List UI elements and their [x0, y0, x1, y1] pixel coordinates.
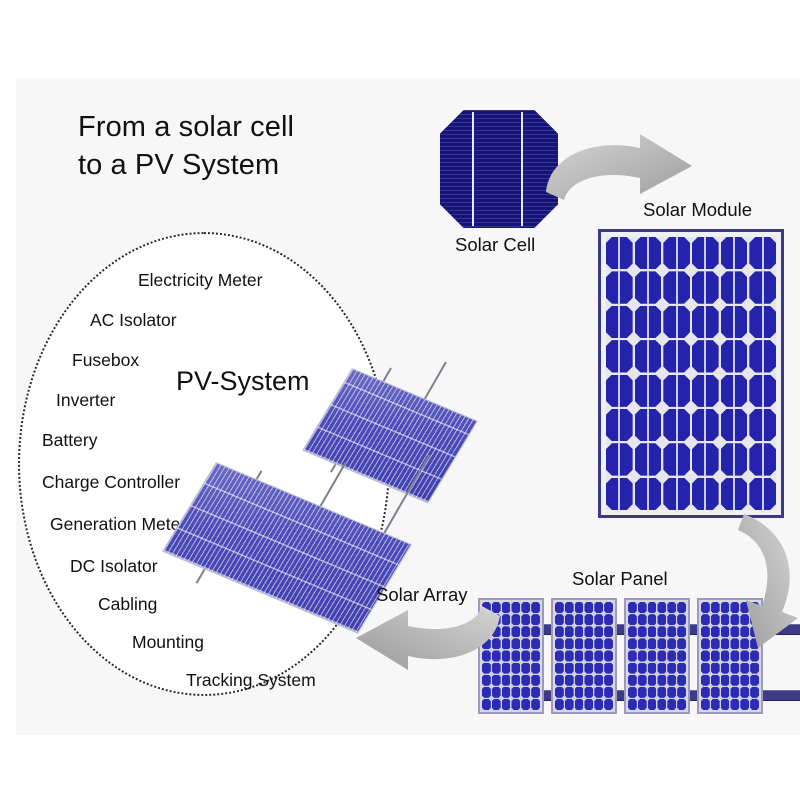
- panel-cell: [711, 687, 720, 698]
- panel-cell: [701, 675, 710, 686]
- panel-cell: [502, 699, 511, 710]
- panel-cell: [657, 663, 666, 674]
- module-cell: [606, 375, 633, 407]
- panel-cell: [628, 602, 637, 613]
- panel-cell: [594, 687, 603, 698]
- panel-cell: [604, 675, 613, 686]
- module-cell: [749, 409, 776, 441]
- module-cell: [692, 409, 719, 441]
- module-cell: [749, 375, 776, 407]
- module-cell: [635, 443, 662, 475]
- panel-cell: [628, 699, 637, 710]
- panel-cell: [740, 699, 749, 710]
- panel-cell: [502, 626, 511, 637]
- panel-cell: [502, 675, 511, 686]
- panel-cell: [575, 650, 584, 661]
- panel-cell: [511, 699, 520, 710]
- solar-cell-busbar-right: [521, 112, 523, 226]
- module-cell: [606, 443, 633, 475]
- panel-cell: [721, 675, 730, 686]
- panel-cell: [511, 602, 520, 613]
- panel-cell: [594, 675, 603, 686]
- component-item-electricity-meter: Electricity Meter: [138, 270, 262, 291]
- component-item-fusebox: Fusebox: [72, 350, 139, 371]
- panel-cell: [482, 699, 491, 710]
- panel-cell: [492, 699, 501, 710]
- panel-cell: [521, 699, 530, 710]
- panel-cell: [711, 650, 720, 661]
- module-cell: [721, 478, 748, 510]
- panel-cell: [511, 675, 520, 686]
- panel-cell: [701, 699, 710, 710]
- panel-cell: [701, 687, 710, 698]
- panel-module-2: [551, 598, 617, 714]
- panel-cell: [575, 675, 584, 686]
- module-cell: [663, 340, 690, 372]
- arrow-module-to-panel: [712, 508, 800, 650]
- panel-cell: [565, 675, 574, 686]
- panel-cell: [657, 626, 666, 637]
- panel-cell: [657, 638, 666, 649]
- panel-cell: [584, 663, 593, 674]
- module-cell: [606, 306, 633, 338]
- panel-cell: [584, 699, 593, 710]
- panel-cell: [584, 638, 593, 649]
- panel-cell: [604, 663, 613, 674]
- panel-cell: [648, 638, 657, 649]
- module-cell: [721, 443, 748, 475]
- panel-cell: [555, 675, 564, 686]
- panel-cell: [677, 626, 686, 637]
- panel-cell: [482, 687, 491, 698]
- panel-cell: [565, 663, 574, 674]
- panel-cell: [638, 638, 647, 649]
- panel-cell: [750, 650, 759, 661]
- panel-cell: [521, 650, 530, 661]
- module-cell: [635, 271, 662, 303]
- module-cell: [663, 237, 690, 269]
- panel-cell: [555, 699, 564, 710]
- panel-cell: [604, 602, 613, 613]
- module-cell: [721, 271, 748, 303]
- panel-cell: [667, 614, 676, 625]
- panel-cell: [521, 602, 530, 613]
- panel-cell: [638, 675, 647, 686]
- panel-cell: [677, 687, 686, 698]
- panel-cell: [604, 687, 613, 698]
- panel-cell: [565, 626, 574, 637]
- module-cell: [663, 443, 690, 475]
- panel-cell: [638, 699, 647, 710]
- panel-module-3-grid: [628, 602, 686, 710]
- panel-cell: [701, 602, 710, 613]
- component-item-inverter: Inverter: [56, 390, 115, 411]
- panel-cell: [648, 614, 657, 625]
- arrow-panel-to-array-shape: [356, 606, 500, 670]
- panel-cell: [555, 602, 564, 613]
- panel-module-2-grid: [555, 602, 613, 710]
- panel-cell: [721, 663, 730, 674]
- panel-cell: [604, 650, 613, 661]
- panel-cell: [667, 663, 676, 674]
- panel-cell: [492, 675, 501, 686]
- panel-cell: [531, 687, 540, 698]
- panel-cell: [701, 626, 710, 637]
- panel-cell: [565, 602, 574, 613]
- module-cell: [721, 409, 748, 441]
- module-cell: [606, 237, 633, 269]
- panel-cell: [594, 614, 603, 625]
- panel-cell: [531, 663, 540, 674]
- panel-cell: [492, 687, 501, 698]
- panel-cell: [531, 602, 540, 613]
- panel-cell: [575, 699, 584, 710]
- panel-cell: [667, 699, 676, 710]
- panel-cell: [721, 687, 730, 698]
- panel-cell: [555, 687, 564, 698]
- panel-cell: [628, 687, 637, 698]
- panel-cell: [701, 638, 710, 649]
- panel-cell: [594, 602, 603, 613]
- panel-cell: [730, 699, 739, 710]
- panel-cell: [594, 626, 603, 637]
- component-item-battery: Battery: [42, 430, 97, 451]
- panel-cell: [667, 602, 676, 613]
- module-cell: [663, 478, 690, 510]
- panel-cell: [648, 675, 657, 686]
- panel-cell: [711, 699, 720, 710]
- page-title-line1: From a solar cell: [78, 108, 408, 146]
- panel-cell: [667, 638, 676, 649]
- panel-cell: [502, 650, 511, 661]
- panel-cell: [502, 614, 511, 625]
- panel-cell: [584, 614, 593, 625]
- panel-cell: [628, 650, 637, 661]
- module-cell: [721, 306, 748, 338]
- panel-cell: [740, 650, 749, 661]
- panel-cell: [555, 614, 564, 625]
- panel-cell: [677, 638, 686, 649]
- panel-cell: [721, 650, 730, 661]
- panel-cell: [521, 638, 530, 649]
- panel-cell: [584, 626, 593, 637]
- panel-cell: [750, 663, 759, 674]
- module-cell: [635, 237, 662, 269]
- panel-cell: [628, 675, 637, 686]
- panel-cell: [657, 602, 666, 613]
- panel-cell: [638, 663, 647, 674]
- module-cell: [606, 271, 633, 303]
- panel-cell: [667, 687, 676, 698]
- module-cell: [692, 340, 719, 372]
- panel-cell: [575, 663, 584, 674]
- panel-cell: [521, 687, 530, 698]
- panel-cell: [511, 638, 520, 649]
- panel-cell: [565, 699, 574, 710]
- module-cell: [721, 375, 748, 407]
- panel-cell: [638, 614, 647, 625]
- panel-cell: [502, 687, 511, 698]
- module-cell: [692, 375, 719, 407]
- module-cell: [692, 478, 719, 510]
- module-cell: [692, 237, 719, 269]
- module-cell: [635, 306, 662, 338]
- panel-cell: [648, 602, 657, 613]
- panel-cell: [677, 602, 686, 613]
- panel-cell: [730, 675, 739, 686]
- panel-cell: [740, 675, 749, 686]
- module-cell: [635, 375, 662, 407]
- array-row-back: [302, 368, 478, 503]
- panel-cell: [565, 614, 574, 625]
- panel-cell: [657, 687, 666, 698]
- module-cell: [635, 340, 662, 372]
- panel-cell: [667, 675, 676, 686]
- panel-cell: [730, 663, 739, 674]
- panel-cell: [594, 638, 603, 649]
- panel-cell: [555, 650, 564, 661]
- panel-cell: [677, 675, 686, 686]
- panel-cell: [594, 699, 603, 710]
- panel-cell: [511, 626, 520, 637]
- panel-cell: [711, 675, 720, 686]
- panel-cell: [575, 626, 584, 637]
- panel-cell: [648, 626, 657, 637]
- panel-cell: [648, 650, 657, 661]
- module-cell: [606, 409, 633, 441]
- panel-cell: [750, 675, 759, 686]
- arrow-cell-to-module: [544, 132, 694, 214]
- solar-cell-label: Solar Cell: [455, 234, 535, 256]
- solar-cell-fingers: [440, 110, 558, 228]
- panel-cell: [565, 650, 574, 661]
- panel-cell: [511, 687, 520, 698]
- panel-cell: [628, 638, 637, 649]
- panel-cell: [657, 675, 666, 686]
- panel-cell: [657, 699, 666, 710]
- module-cell: [663, 409, 690, 441]
- panel-cell: [575, 638, 584, 649]
- panel-module-3: [624, 598, 690, 714]
- module-cell: [749, 443, 776, 475]
- module-cell: [692, 443, 719, 475]
- panel-cell: [584, 602, 593, 613]
- panel-cell: [750, 699, 759, 710]
- panel-cell: [575, 602, 584, 613]
- component-item-generation-meter: Generation Meter: [50, 514, 186, 535]
- panel-cell: [677, 614, 686, 625]
- panel-cell: [521, 614, 530, 625]
- panel-cell: [531, 614, 540, 625]
- panel-cell: [628, 626, 637, 637]
- panel-cell: [521, 626, 530, 637]
- panel-cell: [711, 663, 720, 674]
- module-cell: [749, 478, 776, 510]
- panel-cell: [521, 663, 530, 674]
- solar-cell-icon: [440, 110, 558, 228]
- module-cell: [635, 409, 662, 441]
- panel-cell: [740, 663, 749, 674]
- solar-module-cell-grid: [606, 237, 776, 510]
- panel-cell: [730, 650, 739, 661]
- solar-cell-busbar-left: [472, 112, 474, 226]
- panel-cell: [638, 687, 647, 698]
- panel-cell: [638, 626, 647, 637]
- panel-cell: [667, 626, 676, 637]
- panel-cell: [701, 614, 710, 625]
- panel-cell: [750, 687, 759, 698]
- module-cell: [663, 271, 690, 303]
- panel-cell: [604, 626, 613, 637]
- panel-cell: [701, 663, 710, 674]
- panel-cell: [531, 675, 540, 686]
- panel-cell: [677, 699, 686, 710]
- panel-cell: [575, 687, 584, 698]
- diagram-canvas: From a solar cell to a PV System Electri…: [0, 0, 800, 800]
- panel-cell: [511, 650, 520, 661]
- panel-cell: [531, 638, 540, 649]
- component-item-ac-isolator: AC Isolator: [90, 310, 177, 331]
- panel-cell: [511, 614, 520, 625]
- panel-cell: [628, 614, 637, 625]
- panel-cell: [511, 663, 520, 674]
- panel-cell: [648, 687, 657, 698]
- module-cell: [606, 478, 633, 510]
- module-cell: [749, 306, 776, 338]
- panel-cell: [565, 687, 574, 698]
- module-cell: [663, 306, 690, 338]
- panel-cell: [531, 699, 540, 710]
- panel-cell: [701, 650, 710, 661]
- panel-cell: [628, 663, 637, 674]
- component-item-charge-controller: Charge Controller: [42, 472, 180, 493]
- panel-cell: [721, 699, 730, 710]
- component-item-mounting: Mounting: [132, 632, 204, 653]
- panel-cell: [648, 699, 657, 710]
- arrow-module-to-panel-shape: [738, 514, 798, 648]
- panel-cell: [531, 626, 540, 637]
- module-cell: [749, 340, 776, 372]
- panel-cell: [594, 650, 603, 661]
- panel-cell: [584, 687, 593, 698]
- panel-cell: [740, 687, 749, 698]
- panel-cell: [594, 663, 603, 674]
- panel-cell: [648, 663, 657, 674]
- panel-cell: [638, 650, 647, 661]
- module-cell: [663, 375, 690, 407]
- panel-cell: [584, 675, 593, 686]
- panel-cell: [584, 650, 593, 661]
- panel-cell: [555, 663, 564, 674]
- panel-cell: [657, 614, 666, 625]
- panel-cell: [730, 687, 739, 698]
- module-cell: [721, 340, 748, 372]
- page-title: From a solar cell to a PV System: [78, 108, 408, 185]
- panel-cell: [604, 638, 613, 649]
- panel-cell: [555, 626, 564, 637]
- solar-panel-label: Solar Panel: [572, 568, 668, 590]
- panel-cell: [531, 650, 540, 661]
- panel-cell: [521, 675, 530, 686]
- panel-cell: [575, 614, 584, 625]
- arrow-cell-to-module-shape: [546, 134, 692, 200]
- panel-cell: [565, 638, 574, 649]
- panel-cell: [657, 650, 666, 661]
- panel-cell: [677, 650, 686, 661]
- module-cell: [749, 271, 776, 303]
- panel-cell: [638, 602, 647, 613]
- solar-module-icon: [598, 229, 784, 518]
- panel-cell: [667, 650, 676, 661]
- component-item-cabling: Cabling: [98, 594, 157, 615]
- panel-cell: [555, 638, 564, 649]
- page-title-line2: to a PV System: [78, 146, 408, 184]
- panel-cell: [502, 602, 511, 613]
- panel-cell: [502, 638, 511, 649]
- panel-cell: [677, 663, 686, 674]
- module-cell: [635, 478, 662, 510]
- arrow-panel-to-array: [354, 596, 502, 674]
- panel-cell: [604, 614, 613, 625]
- module-cell: [692, 271, 719, 303]
- component-item-tracking-system: Tracking System: [186, 670, 316, 691]
- panel-cell: [502, 663, 511, 674]
- module-cell: [749, 237, 776, 269]
- component-item-dc-isolator: DC Isolator: [70, 556, 158, 577]
- module-cell: [721, 237, 748, 269]
- module-cell: [606, 340, 633, 372]
- panel-cell: [482, 675, 491, 686]
- module-cell: [692, 306, 719, 338]
- array-row-back-face: [302, 368, 478, 503]
- panel-cell: [604, 699, 613, 710]
